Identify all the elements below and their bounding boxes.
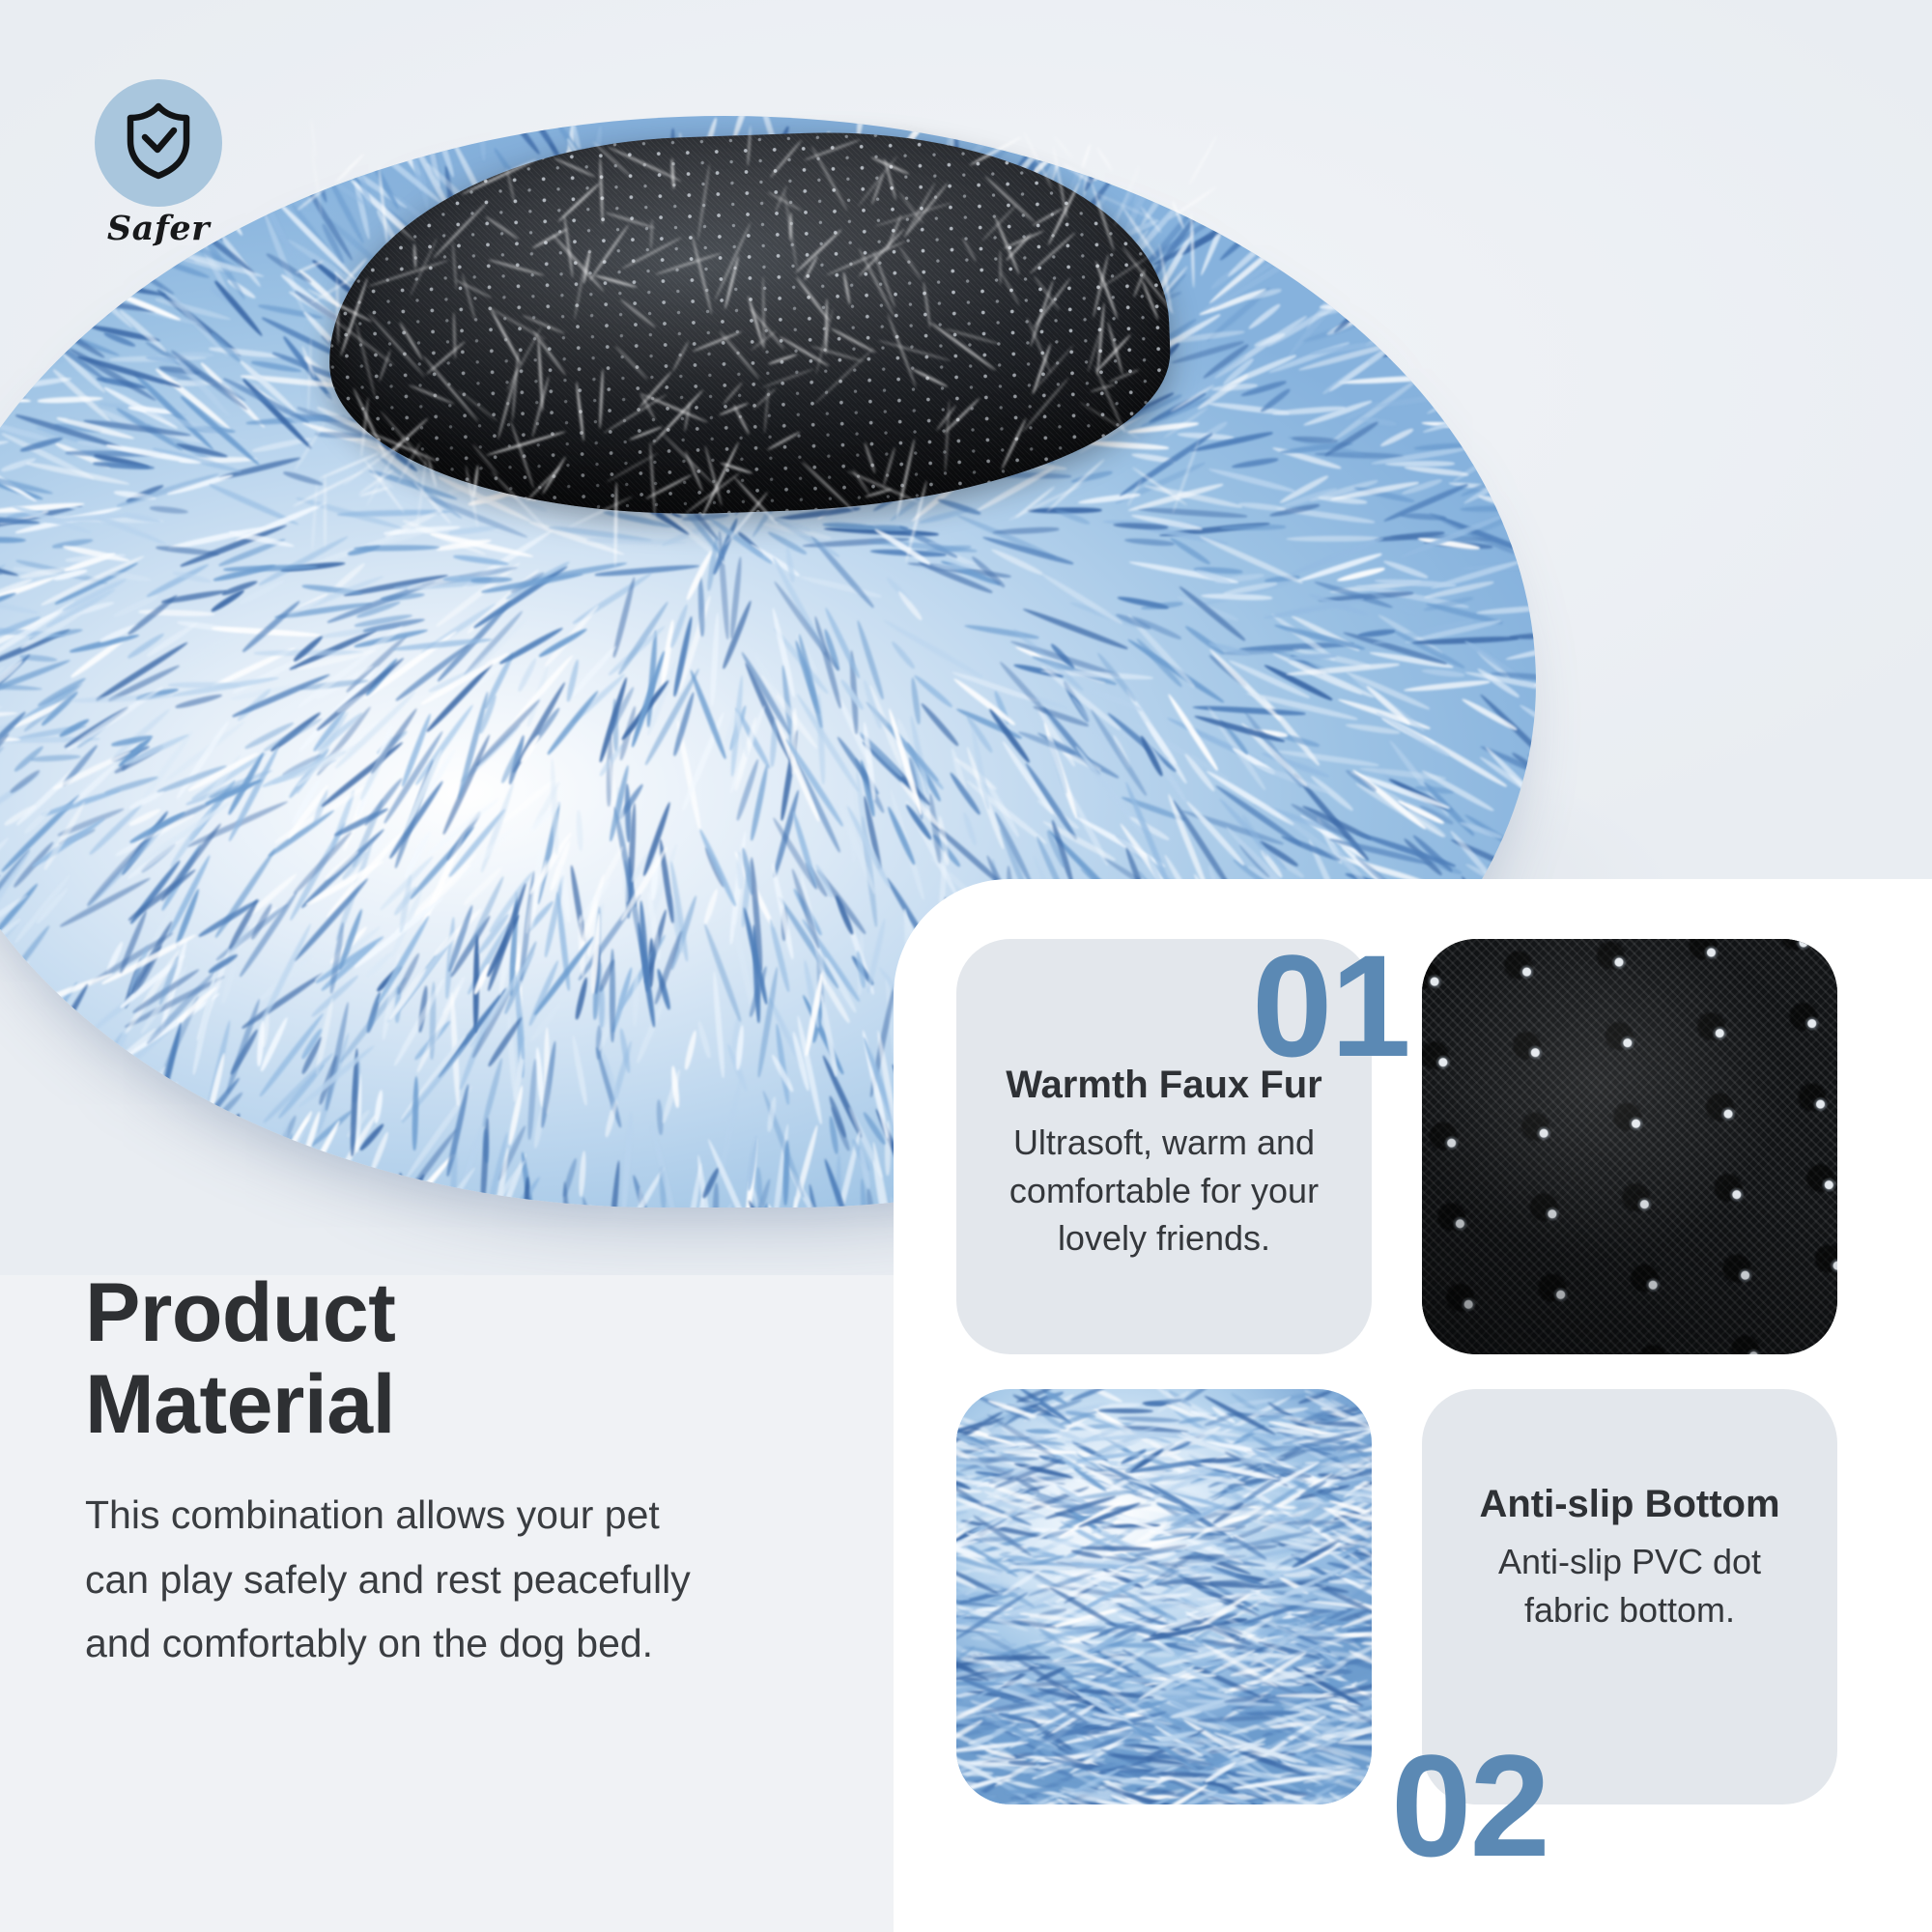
shield-check-icon	[121, 100, 196, 186]
cushion-shading	[322, 121, 1175, 526]
card-description: Ultrasoft, warm and comfortable for your…	[989, 1119, 1339, 1263]
swatch-blue-faux-fur	[956, 1389, 1372, 1804]
infographic-page: Safer Warmth Faux Fur Ultrasoft, warm an…	[0, 0, 1932, 1932]
step-number-02: 02	[1391, 1745, 1548, 1866]
card-description: Anti-slip PVC dot fabric bottom.	[1455, 1538, 1804, 1634]
product-material-copy: Product Material This combination allows…	[85, 1267, 761, 1675]
step-number-01: 01	[1252, 945, 1409, 1066]
badge-label: Safer	[85, 209, 232, 248]
pvc-shading	[1422, 939, 1837, 1354]
swatch-black-pvc-dot-fabric	[1422, 939, 1837, 1354]
page-title: Product Material	[85, 1267, 761, 1450]
safer-badge: Safer	[85, 79, 232, 248]
anti-slip-cushion	[322, 121, 1175, 526]
page-body-text: This combination allows your pet can pla…	[85, 1483, 703, 1675]
card-title: Anti-slip Bottom	[1455, 1482, 1804, 1526]
badge-circle	[95, 79, 222, 207]
